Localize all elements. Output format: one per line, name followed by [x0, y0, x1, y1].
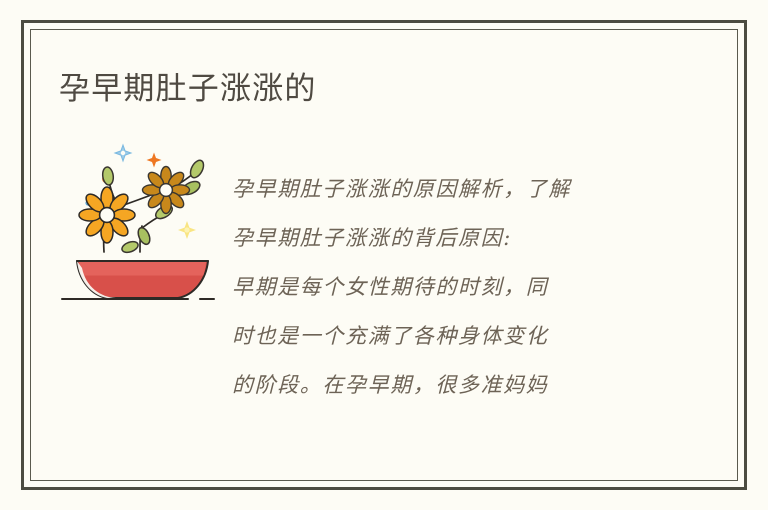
- yellow-sparkle-icon: [178, 221, 196, 239]
- page-title: 孕早期肚子涨涨的: [59, 68, 317, 110]
- daisy-flower-back: [143, 167, 190, 214]
- article-card: 孕早期肚子涨涨的: [0, 0, 768, 510]
- orange-star-icon: [147, 153, 162, 168]
- article-body: 孕早期肚子涨涨的原因解析，了解 孕早期肚子涨涨的背后原因: 早期是每个女性期待的…: [232, 165, 662, 410]
- body-line: 的阶段。在孕早期，很多准妈妈: [232, 361, 662, 410]
- body-line: 孕早期肚子涨涨的原因解析，了解: [232, 165, 662, 214]
- body-line: 早期是每个女性期待的时刻，同: [232, 263, 662, 312]
- daisy-flower-front: [79, 187, 135, 243]
- body-line: 时也是一个充满了各种身体变化: [232, 312, 662, 361]
- flower-pot: [77, 261, 208, 298]
- blue-sparkle-icon: [115, 145, 131, 161]
- potted-flowers-illustration: [60, 140, 225, 308]
- body-line: 孕早期肚子涨涨的背后原因:: [232, 214, 662, 263]
